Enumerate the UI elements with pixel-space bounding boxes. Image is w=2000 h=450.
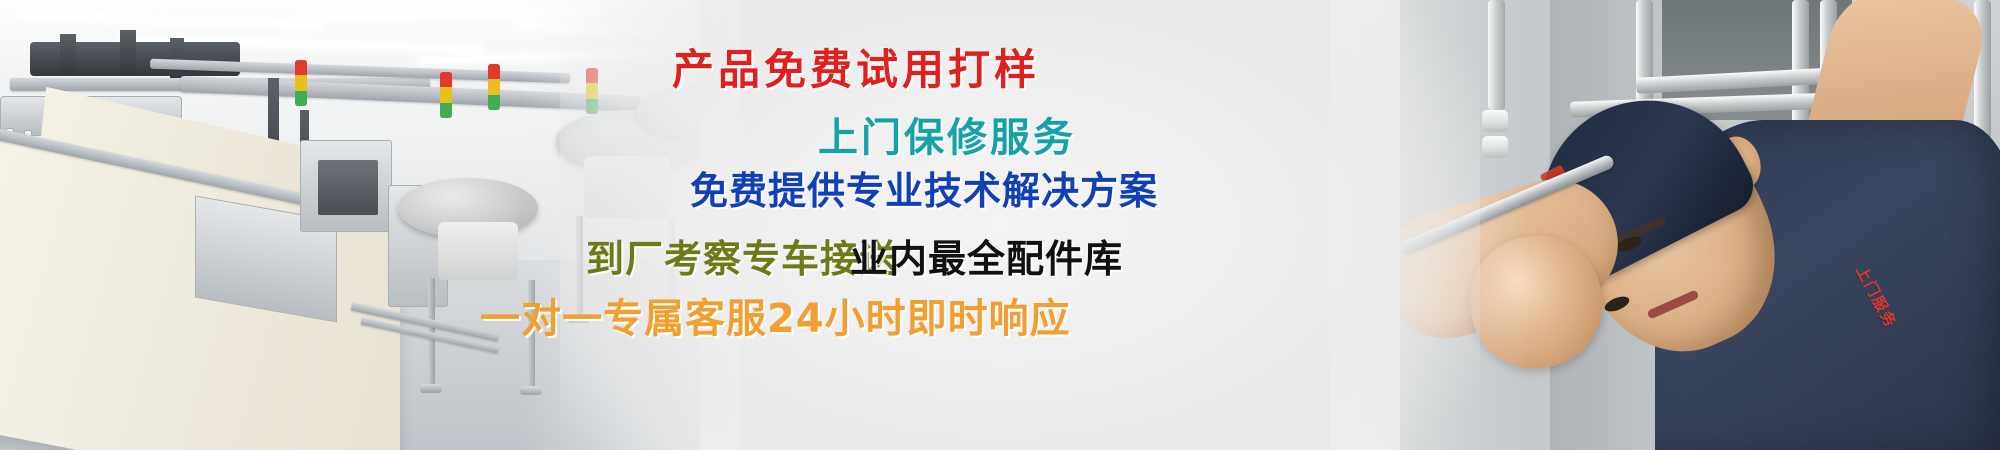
slogan-free-trial-sample: 产品免费试用打样 bbox=[672, 36, 1040, 97]
service-promo-banner: 上门服务 产品免费试用打样 上门保修服务 免费提供专业技术解决方案 到厂考察专车… bbox=[0, 0, 2000, 450]
slogan-free-tech-solution: 免费提供专业技术解决方案 bbox=[690, 160, 1158, 215]
slogan-one-to-one-support: 一对一专属客服24小时即时响应 bbox=[480, 286, 1071, 344]
slogan-parts-inventory: 业内最全配件库 bbox=[850, 228, 1123, 283]
slogan-block: 产品免费试用打样 上门保修服务 免费提供专业技术解决方案 到厂考察专车接送 业内… bbox=[0, 0, 2000, 450]
slogan-onsite-warranty: 上门保修服务 bbox=[818, 105, 1076, 163]
